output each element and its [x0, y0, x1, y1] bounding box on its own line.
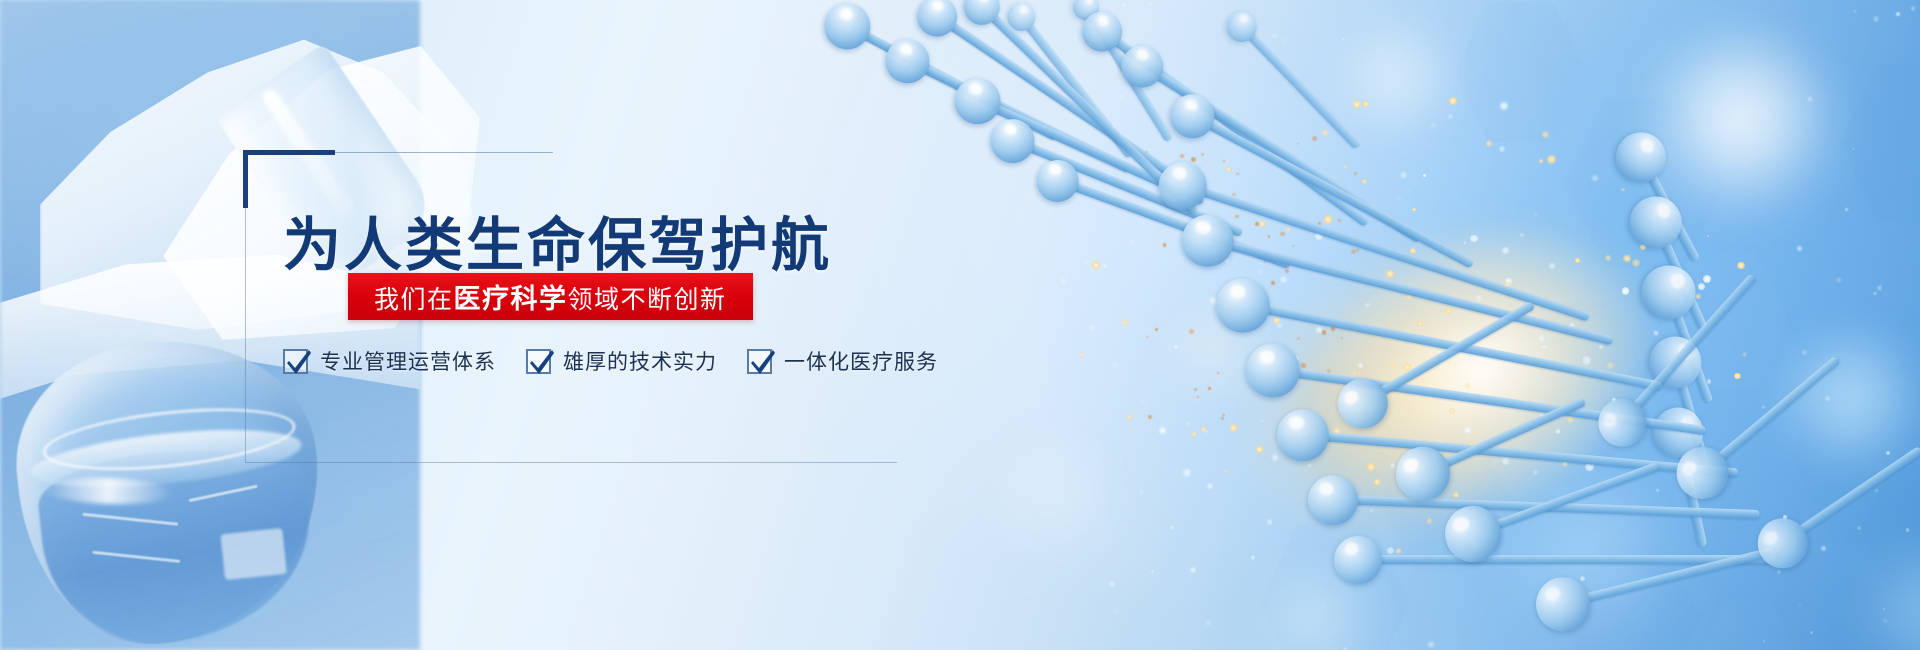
frame-top-rule	[335, 152, 553, 153]
hexagon-shape	[1100, 10, 1210, 131]
light-particle	[1878, 286, 1881, 289]
dust-speck	[1148, 415, 1152, 419]
light-particle	[1837, 278, 1841, 282]
light-particle	[1054, 312, 1056, 314]
dna-sphere	[1069, 0, 1105, 25]
feature-label: 雄厚的技术实力	[563, 346, 717, 376]
light-particle	[1089, 325, 1094, 330]
light-particle	[1122, 320, 1127, 325]
tagline-band: 我们在医疗科学领域不断创新	[348, 273, 753, 320]
dust-speck	[1161, 183, 1165, 187]
dust-speck	[1297, 143, 1299, 145]
dna-sphere	[984, 112, 1041, 169]
check-icon[interactable]	[747, 349, 772, 374]
light-particle	[1112, 362, 1118, 368]
feature-label: 一体化医疗服务	[784, 346, 938, 376]
tagline-prefix: 我们在	[374, 286, 454, 314]
light-particle	[1060, 278, 1066, 284]
feature-item[interactable]: 雄厚的技术实力	[526, 346, 717, 376]
light-particle	[1171, 526, 1174, 529]
light-particle	[1079, 352, 1084, 357]
light-particle	[1873, 292, 1876, 295]
light-particle	[1282, 38, 1287, 43]
light-particle	[1151, 570, 1154, 573]
light-particle	[1783, 515, 1788, 520]
dust-speck	[1144, 151, 1148, 155]
light-particle	[1122, 3, 1127, 8]
light-particle	[1272, 33, 1277, 38]
light-particle	[1085, 260, 1089, 264]
light-particle	[1007, 27, 1012, 32]
light-particle	[1092, 261, 1100, 269]
light-particle	[1119, 456, 1121, 458]
light-particle	[1321, 129, 1329, 137]
light-particle	[1883, 608, 1885, 610]
light-particle	[1103, 264, 1107, 268]
light-particle	[1025, 591, 1027, 593]
frame-left-rule	[245, 208, 246, 462]
light-particle	[1190, 567, 1196, 573]
hexagon-shape	[1840, 60, 1920, 225]
light-particle	[1148, 2, 1153, 7]
dna-sphere	[1031, 154, 1085, 208]
light-particle	[1911, 6, 1916, 11]
tagline-emphasis: 医疗科学	[454, 284, 568, 314]
light-particle	[1884, 620, 1887, 623]
check-icon[interactable]	[526, 349, 551, 374]
light-particle	[1105, 160, 1109, 164]
light-particle	[1810, 631, 1813, 634]
hexagon-shape	[980, 30, 1052, 109]
light-particle	[1799, 604, 1801, 606]
light-particle	[1114, 609, 1118, 613]
check-icon	[286, 347, 312, 377]
dust-speck	[1137, 211, 1139, 213]
tagline-text: 我们在医疗科学领域不断创新	[374, 277, 727, 316]
light-particle	[1127, 316, 1129, 318]
feature-label: 专业管理运营体系	[320, 346, 496, 376]
light-particle	[1363, 101, 1369, 107]
light-particle	[1126, 414, 1133, 421]
light-particle	[1183, 468, 1191, 476]
light-particle	[1140, 490, 1143, 493]
hexagon-shape	[1700, 600, 1796, 650]
feature-item[interactable]: 一体化医疗服务	[747, 346, 938, 376]
light-particle	[1353, 100, 1362, 109]
dna-sphere	[1002, 0, 1041, 37]
light-particle	[1142, 399, 1145, 402]
banner-content: 为人类生命保驾护航 我们在医疗科学领域不断创新 专业管理运营体系雄厚的技术实力一…	[243, 150, 903, 465]
check-icon	[529, 347, 555, 377]
light-particle	[1896, 12, 1900, 16]
hexagon-shape	[1040, 96, 1100, 162]
page-title: 为人类生命保驾护航	[283, 198, 832, 282]
bokeh-light	[980, 430, 1120, 570]
dna-sphere	[910, 0, 966, 44]
feature-list: 专业管理运营体系雄厚的技术实力一体化医疗服务	[283, 346, 938, 376]
frame-bottom-rule	[245, 462, 897, 463]
dna-sphere	[817, 0, 879, 57]
light-particle	[1159, 427, 1166, 434]
dust-speck	[1312, 136, 1317, 141]
dna-sphere	[878, 31, 937, 90]
light-particle	[1854, 10, 1856, 12]
check-icon	[750, 347, 776, 377]
light-particle	[1873, 16, 1879, 22]
light-particle	[1797, 246, 1802, 251]
feature-item[interactable]: 专业管理运营体系	[283, 346, 496, 376]
check-icon[interactable]	[283, 349, 308, 374]
light-particle	[1206, 621, 1210, 625]
light-particle	[1845, 208, 1848, 211]
tagline-suffix: 领域不断创新	[568, 286, 727, 314]
light-particle	[1777, 570, 1781, 574]
beaker-label-patch	[220, 528, 286, 580]
dna-sphere	[1748, 508, 1817, 577]
light-particle	[1342, 38, 1345, 41]
dna-sphere	[957, 0, 1008, 32]
light-particle	[1109, 581, 1115, 587]
light-particle	[1089, 311, 1092, 314]
dna-sphere	[1221, 5, 1263, 47]
medical-hero-banner: 为人类生命保驾护航 我们在医疗科学领域不断创新 专业管理运营体系雄厚的技术实力一…	[0, 0, 1920, 650]
light-particle	[1821, 546, 1826, 551]
dust-speck	[1184, 178, 1186, 180]
